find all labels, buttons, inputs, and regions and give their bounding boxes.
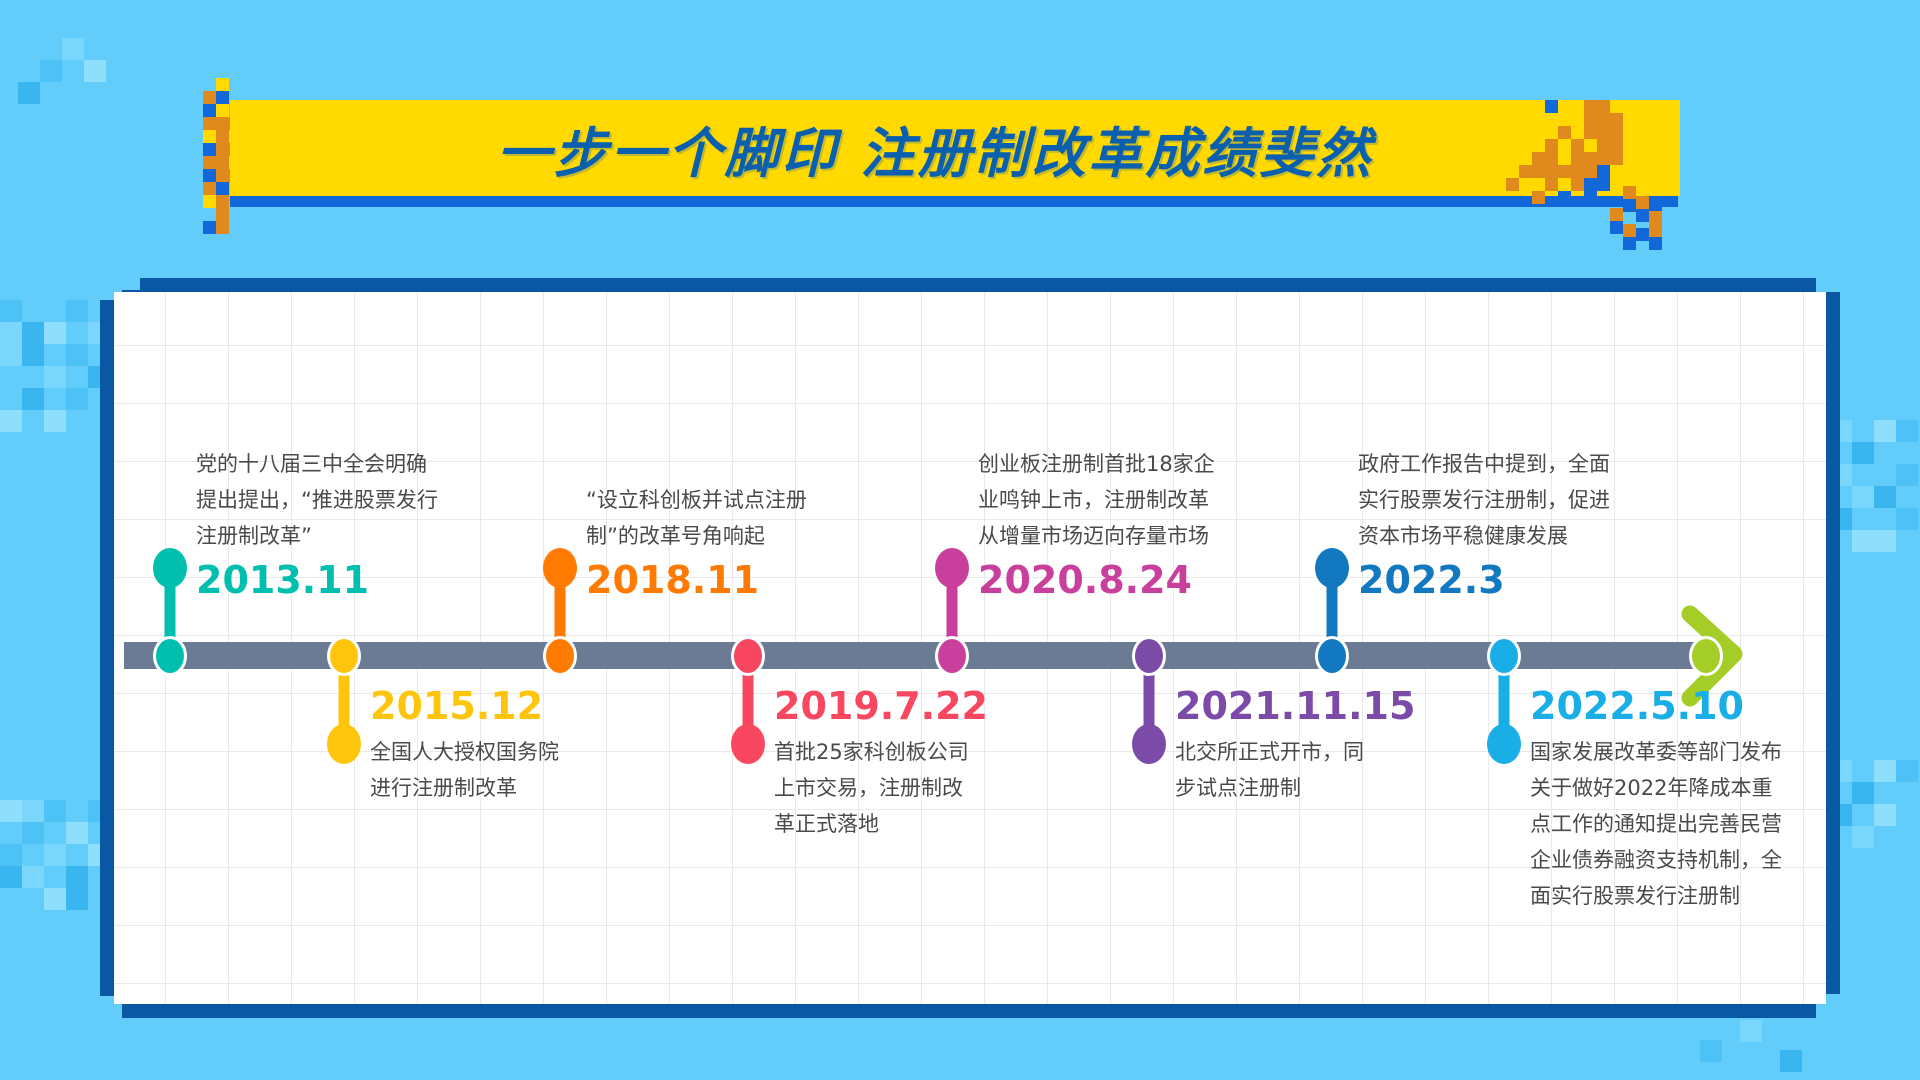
entry-description-line: 注册制改革” [196,518,438,554]
background-pixel [22,388,44,410]
entry-description: 政府工作报告中提到，全面实行股票发行注册制，促进资本市场平稳健康发展 [1358,446,1610,554]
entry-description-line: 首批25家科创板公司 [774,734,988,770]
banner-pixel [1649,198,1662,211]
entry-description: 全国人大授权国务院进行注册制改革 [370,734,559,806]
background-pixel [22,866,44,888]
frame-corner-top-left-step [122,278,140,290]
title-banner: 一步一个脚印 注册制改革成绩斐然 [190,78,1750,218]
timeline-dot[interactable] [731,636,765,676]
content-panel-frame: 党的十八届三中全会明确提出提出，“推进股票发行注册制改革”2013.112015… [100,278,1840,1018]
entry-date: 2018.11 [586,558,807,602]
entry-description-line: 点工作的通知提出完善民营 [1530,806,1782,842]
banner-pixel [1623,237,1636,250]
frame-corner-top-right [1816,278,1840,292]
background-pixel [1874,420,1896,442]
background-pixel [0,866,22,888]
entry-description-line: 制”的改革号角响起 [586,518,807,554]
background-pixel [1780,1050,1802,1072]
entry-description-line: 业鸣钟上市，注册制改革 [978,482,1215,518]
entry-date: 2021.11.15 [1175,684,1415,728]
background-pixel [1852,782,1874,804]
timeline-dot[interactable] [327,636,361,676]
timeline-dot[interactable] [543,636,577,676]
background-pixel [1874,804,1896,826]
entry-description-line: 面实行股票发行注册制 [1530,878,1782,914]
background-pixel [84,60,106,82]
timeline-entry: 2022.5.10国家发展改革委等部门发布关于做好2022年降成本重点工作的通知… [1530,684,1782,915]
entry-description-line: 政府工作报告中提到，全面 [1358,446,1610,482]
background-pixel [1874,760,1896,782]
entry-description-line: 国家发展改革委等部门发布 [1530,734,1782,770]
timeline: 党的十八届三中全会明确提出提出，“推进股票发行注册制改革”2013.112015… [114,292,1826,1004]
timeline-entry: 创业板注册制首批18家企业鸣钟上市，注册制改革从增量市场迈向存量市场2020.8… [978,446,1215,602]
entry-description-line: 资本市场平稳健康发展 [1358,518,1610,554]
entry-date: 2013.11 [196,558,438,602]
background-pixel [44,410,66,432]
banner-pixel [203,195,216,208]
background-pixel [22,344,44,366]
entry-description-line: 企业债券融资支持机制，全 [1530,842,1782,878]
timeline-dot[interactable] [153,636,187,676]
timeline-entry: 2015.12全国人大授权国务院进行注册制改革 [370,684,559,806]
timeline-dot-end [1689,636,1723,676]
background-pixel [44,322,66,344]
background-pixel [40,60,62,82]
background-pixel [44,888,66,910]
background-pixel [1852,442,1874,464]
timeline-dot[interactable] [1132,636,1166,676]
background-pixel [1896,508,1918,530]
background-pixel [1852,486,1874,508]
timeline-entry: 2019.7.22首批25家科创板公司上市交易，注册制改革正式落地 [774,684,988,842]
background-pixel [1700,1040,1722,1062]
timeline-entry: 党的十八届三中全会明确提出提出，“推进股票发行注册制改革”2013.11 [196,446,438,602]
background-pixel [66,888,88,910]
timeline-dot[interactable] [935,636,969,676]
entry-description-line: 全国人大授权国务院 [370,734,559,770]
timeline-stem-endpoint [731,724,765,764]
banner-pixel [216,195,229,208]
background-pixel [22,800,44,822]
entry-description: 党的十八届三中全会明确提出提出，“推进股票发行注册制改革” [196,446,438,554]
banner-pixel [1636,196,1649,209]
entry-description-line: 从增量市场迈向存量市场 [978,518,1215,554]
background-pixel [1874,530,1896,552]
background-pixel [44,366,66,388]
banner-pixel [203,221,216,234]
background-pixel [1852,826,1874,848]
background-pixel [66,344,88,366]
background-pixel [0,300,22,322]
background-pixel [44,800,66,822]
background-pixel [0,844,22,866]
timeline-stem-endpoint [1487,724,1521,764]
timeline-axis [124,642,1706,669]
banner-underline [230,196,1678,207]
entry-description-line: 关于做好2022年降成本重 [1530,770,1782,806]
entry-description-line: 实行股票发行注册制，促进 [1358,482,1610,518]
entry-description-line: 革正式落地 [774,806,988,842]
entry-date: 2019.7.22 [774,684,988,728]
timeline-stem-endpoint [153,548,187,588]
banner-pixel [1610,221,1623,234]
entry-description-line: 党的十八届三中全会明确 [196,446,438,482]
background-pixel [0,410,22,432]
background-pixel [1896,420,1918,442]
banner-pixel [1623,199,1636,212]
timeline-dot[interactable] [1315,636,1349,676]
banner-pixel [1649,211,1662,224]
entry-date: 2022.5.10 [1530,684,1782,728]
entry-description: 创业板注册制首批18家企业鸣钟上市，注册制改革从增量市场迈向存量市场 [978,446,1215,554]
entry-description-line: 步试点注册制 [1175,770,1415,806]
background-pixel [66,388,88,410]
banner-pixel [216,221,229,234]
background-pixel [62,38,84,60]
background-pixel [0,322,22,344]
entry-description: 国家发展改革委等部门发布关于做好2022年降成本重点工作的通知提出完善民营企业债… [1530,734,1782,915]
background-pixel [66,866,88,888]
page-title: 一步一个脚印 注册制改革成绩斐然 [190,100,1680,196]
entry-description-line: 北交所正式开市，同 [1175,734,1415,770]
background-pixel [0,344,22,366]
background-pixel [22,322,44,344]
banner-pixel [1623,224,1636,237]
content-panel: 党的十八届三中全会明确提出提出，“推进股票发行注册制改革”2013.112015… [114,292,1826,1004]
timeline-stem-endpoint [327,724,361,764]
entry-date: 2020.8.24 [978,558,1215,602]
timeline-stem-endpoint [1315,548,1349,588]
entry-description-line: “设立科创板并试点注册 [586,482,807,518]
timeline-stem-endpoint [935,548,969,588]
background-pixel [66,822,88,844]
entry-description-line: 提出提出，“推进股票发行 [196,482,438,518]
background-pixel [66,300,88,322]
timeline-dot[interactable] [1487,636,1521,676]
entry-description: 首批25家科创板公司上市交易，注册制改革正式落地 [774,734,988,842]
background-pixel [22,822,44,844]
banner-pixel [216,208,229,221]
banner-pixel [1636,209,1649,222]
banner-pixel [1649,224,1662,237]
background-pixel [18,82,40,104]
background-pixel [0,800,22,822]
timeline-entry: “设立科创板并试点注册制”的改革号角响起2018.11 [586,482,807,602]
background-pixel [1852,530,1874,552]
entry-description: 北交所正式开市，同步试点注册制 [1175,734,1415,806]
background-pixel [1874,486,1896,508]
timeline-entry: 政府工作报告中提到，全面实行股票发行注册制，促进资本市场平稳健康发展2022.3 [1358,446,1610,602]
timeline-stem-endpoint [543,548,577,588]
banner-pixel [216,78,229,91]
banner-pixel [1636,228,1649,241]
entry-description-line: 进行注册制改革 [370,770,559,806]
entry-date: 2015.12 [370,684,559,728]
background-pixel [1896,760,1918,782]
entry-description: “设立科创板并试点注册制”的改革号角响起 [586,482,807,554]
banner-pixel [1649,237,1662,250]
background-pixel [1896,464,1918,486]
entry-description-line: 创业板注册制首批18家企 [978,446,1215,482]
banner-pixel [1610,208,1623,221]
entry-date: 2022.3 [1358,558,1610,602]
background-pixel [1740,1020,1762,1042]
background-pixel [44,844,66,866]
timeline-entry: 2021.11.15北交所正式开市，同步试点注册制 [1175,684,1415,806]
timeline-stem-endpoint [1132,724,1166,764]
entry-description-line: 上市交易，注册制改 [774,770,988,806]
